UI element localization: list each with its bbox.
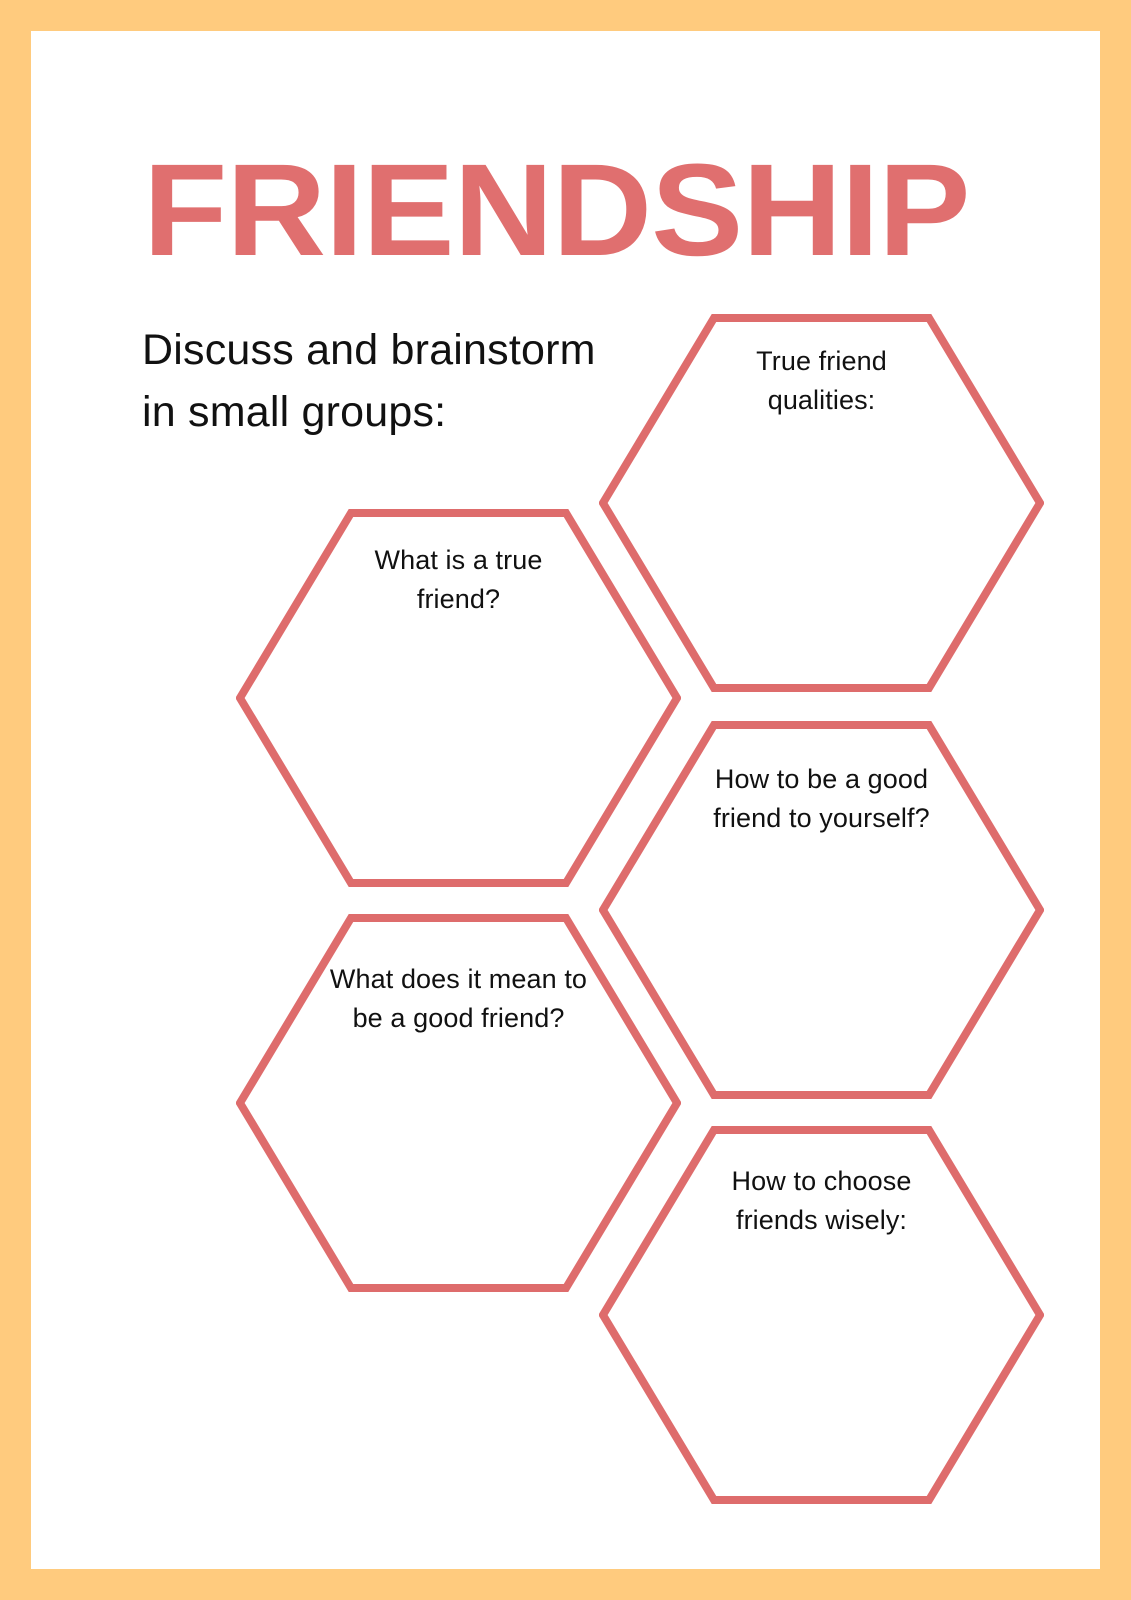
hexagon-choose-friends-wisely[interactable]: How to choose friends wisely: [599, 1126, 1044, 1504]
hexagon-shape-icon [599, 1126, 1044, 1504]
worksheet-sheet: FRIENDSHIP Discuss and brainstorm in sma… [31, 31, 1100, 1569]
instruction-line-2: in small groups: [142, 381, 662, 443]
instruction-text: Discuss and brainstorm in small groups: [142, 319, 662, 443]
instruction-line-1: Discuss and brainstorm [142, 319, 662, 381]
page-title: FRIENDSHIP [143, 147, 1082, 273]
worksheet-page: FRIENDSHIP Discuss and brainstorm in sma… [0, 0, 1131, 1600]
